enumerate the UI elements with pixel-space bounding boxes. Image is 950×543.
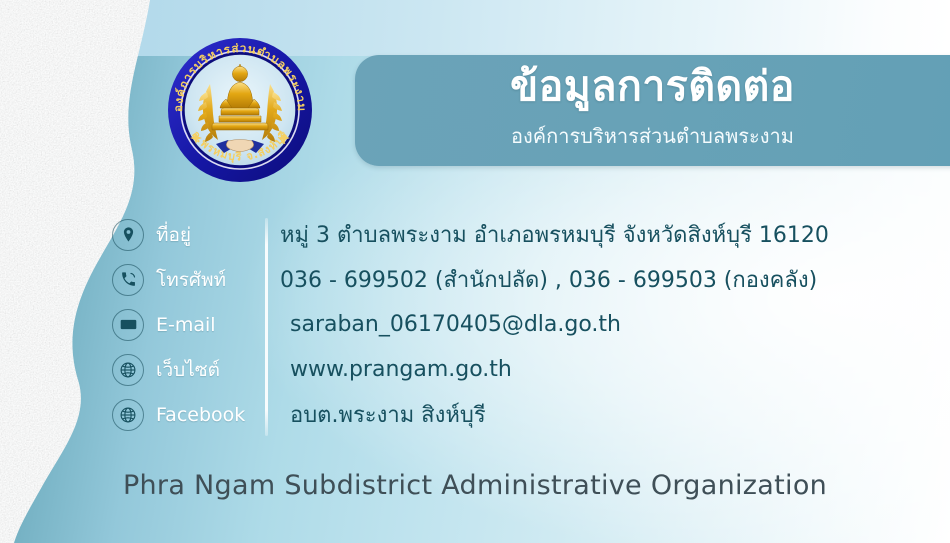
map-pin-icon (112, 219, 144, 251)
top-band (0, 0, 950, 56)
contact-value-email: saraban_06170405@dla.go.th (290, 312, 621, 337)
globe-icon (112, 354, 144, 386)
phone-icon (112, 264, 144, 296)
contact-value-phone: 036 - 699502 (สำนักปลัด) , 036 - 699503 … (280, 262, 817, 297)
contact-value-facebook[interactable]: อบต.พระงาม สิงห์บุรี (290, 397, 486, 432)
contact-card: ข้อมูลการติดต่อ องค์การบริหารส่วนตำบลพระ… (0, 0, 950, 543)
organization-emblem-icon: องค์การบริหารส่วนตำบลพระงาม อ.พรหมบุรี จ… (166, 36, 314, 184)
contact-row-website[interactable]: เว็บไซต์ www.prangam.go.th (112, 347, 872, 392)
contact-row-address: ที่อยู่ หมู่ 3 ตำบลพระงาม อำเภอพรหมบุรี … (112, 212, 872, 257)
contact-label-address: ที่อยู่ (156, 220, 191, 250)
contact-value-website[interactable]: www.prangam.go.th (290, 357, 512, 382)
globe-icon (112, 399, 144, 431)
contact-value-address: หมู่ 3 ตำบลพระงาม อำเภอพรหมบุรี จังหวัดส… (280, 217, 829, 252)
contact-label-website: เว็บไซต์ (156, 355, 220, 385)
envelope-icon (112, 309, 144, 341)
contact-label-phone: โทรศัพท์ (156, 265, 226, 295)
contact-row-email: E-mail saraban_06170405@dla.go.th (112, 302, 872, 347)
contact-row-phone: โทรศัพท์ 036 - 699502 (สำนักปลัด) , 036 … (112, 257, 872, 302)
page-title: ข้อมูลการติดต่อ (355, 60, 950, 112)
contact-label-email: E-mail (156, 314, 216, 336)
contact-label-facebook: Facebook (156, 404, 245, 426)
contact-list: ที่อยู่ หมู่ 3 ตำบลพระงาม อำเภอพรหมบุรี … (112, 212, 872, 440)
contact-row-facebook[interactable]: Facebook อบต.พระงาม สิงห์บุรี (112, 392, 872, 437)
footer-organization-name: Phra Ngam Subdistrict Administrative Org… (0, 470, 950, 501)
page-subtitle: องค์การบริหารส่วนตำบลพระงาม (355, 122, 950, 150)
